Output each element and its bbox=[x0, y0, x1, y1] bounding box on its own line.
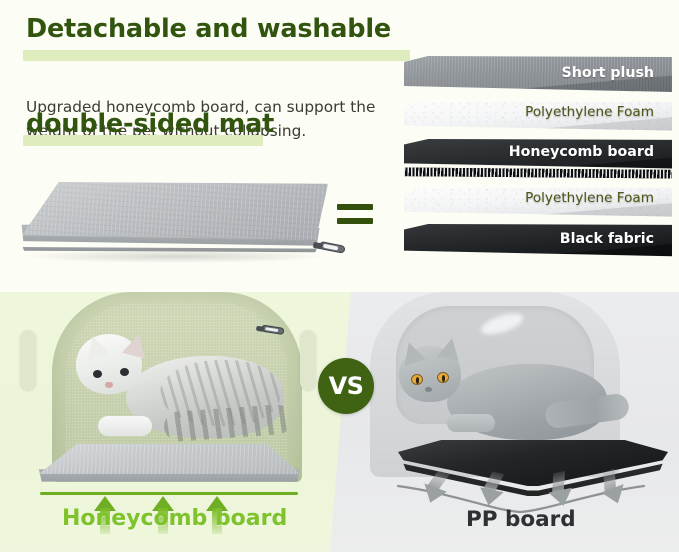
carrier-handle-right bbox=[300, 330, 316, 390]
equals-bar-bottom bbox=[337, 218, 373, 224]
equals-bar-top bbox=[337, 204, 373, 210]
cat-eye-left bbox=[411, 374, 423, 385]
headline-highlight-band-1 bbox=[23, 50, 410, 61]
cat-grey-shorthair bbox=[395, 340, 625, 460]
headline-text-1: Detachable and washable bbox=[26, 14, 391, 44]
carrier-handle-left bbox=[20, 330, 36, 390]
cat-white-tabby bbox=[68, 320, 288, 455]
vs-badge: VS bbox=[318, 358, 374, 414]
cat-nose bbox=[425, 387, 432, 392]
zipper-tab bbox=[313, 241, 323, 249]
caption-pp-board: PP board bbox=[466, 507, 576, 532]
rigid-support-line bbox=[40, 492, 298, 495]
cat-ear-right bbox=[122, 331, 151, 358]
grey-plush-mat-illustration bbox=[8, 182, 338, 282]
cat-eye-right bbox=[120, 368, 129, 376]
headline-text-2: double-sided mat bbox=[26, 109, 274, 139]
page-title: Detachable and washable double-sided mat bbox=[26, 14, 406, 104]
mat-plush-texture bbox=[22, 182, 328, 240]
cat-ear-left bbox=[81, 333, 110, 361]
layer-stack-diagram: Short plush Polyethylene Foam Honeycomb … bbox=[404, 56, 672, 274]
top-section: Detachable and washable double-sided mat… bbox=[0, 0, 679, 292]
vs-label: VS bbox=[329, 374, 364, 398]
layer-label-short-plush: Short plush bbox=[562, 48, 654, 98]
caption-honeycomb-board: Honeycomb board bbox=[62, 506, 287, 531]
cat-ear-left bbox=[398, 339, 425, 366]
mat-shadow bbox=[26, 252, 326, 263]
infographic-page: Detachable and washable double-sided mat… bbox=[0, 0, 679, 552]
headline-line-1: Detachable and washable bbox=[26, 14, 406, 64]
cat-head bbox=[76, 334, 142, 394]
cat-paw bbox=[98, 416, 152, 436]
layer-label-honeycomb-board: Honeycomb board bbox=[509, 129, 654, 175]
cat-nose bbox=[105, 382, 113, 388]
cat-eye-left bbox=[93, 370, 102, 378]
layer-label-foam-bottom: Polyethylene Foam bbox=[525, 178, 654, 218]
cat-head bbox=[399, 346, 461, 402]
layer-label-foam-top: Polyethylene Foam bbox=[525, 92, 654, 132]
equals-icon bbox=[337, 200, 373, 230]
layer-black-fabric: Black fabric bbox=[404, 224, 672, 270]
cat-ear-right bbox=[437, 336, 463, 361]
cat-paw bbox=[447, 414, 495, 432]
layer-label-black-fabric: Black fabric bbox=[560, 216, 654, 262]
cat-eye-right bbox=[437, 372, 449, 383]
